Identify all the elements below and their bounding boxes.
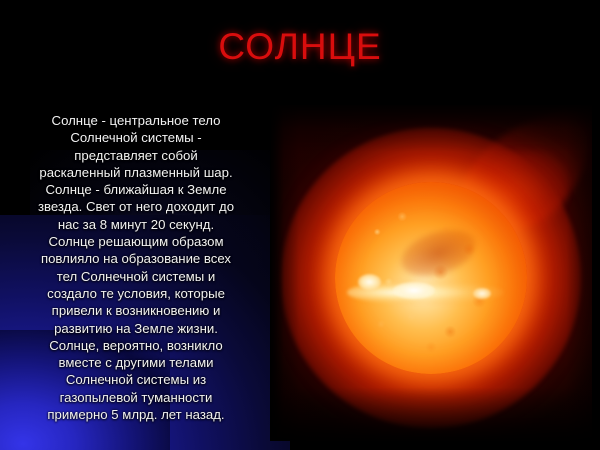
body-line: развитию на Земле жизни. — [8, 320, 264, 337]
body-line: газопылевой туманности — [8, 389, 264, 406]
sun-photograph — [270, 105, 592, 441]
slide-body-text: Солнце - центральное тело Солнечной сист… — [8, 112, 264, 423]
body-line: Солнце - ближайшая к Земле — [8, 181, 264, 198]
body-line: Солнце, вероятно, возникло — [8, 337, 264, 354]
sun-bright-spot-left — [358, 274, 381, 289]
body-line: раскаленный плазменный шар. — [8, 164, 264, 181]
body-line: Солнечной системы из — [8, 371, 264, 388]
body-line: тел Солнечной системы и — [8, 268, 264, 285]
body-line: повлияло на образование всех — [8, 250, 264, 267]
body-line: Солнечной системы - — [8, 129, 264, 146]
body-line: привели к возникновению и — [8, 302, 264, 319]
body-line: звезда. Свет от него доходит до — [8, 198, 264, 215]
body-line: представляет собой — [8, 147, 264, 164]
body-line: нас за 8 минут 20 секунд. — [8, 216, 264, 233]
body-line: вместе с другими телами — [8, 354, 264, 371]
sun-disc — [335, 182, 527, 374]
body-line: примерно 5 млрд. лет назад. — [8, 406, 264, 423]
slide-title: СОЛНЦЕ — [0, 26, 600, 68]
body-line: Солнце - центральное тело — [8, 112, 264, 129]
sun-bright-spot-center — [393, 282, 435, 299]
sun-bright-spot-right — [473, 288, 490, 300]
slide: СОЛНЦЕ Солнце - центральное тело Солнечн… — [0, 0, 600, 450]
body-line: создало те условия, которые — [8, 285, 264, 302]
body-line: Солнце решающим образом — [8, 233, 264, 250]
